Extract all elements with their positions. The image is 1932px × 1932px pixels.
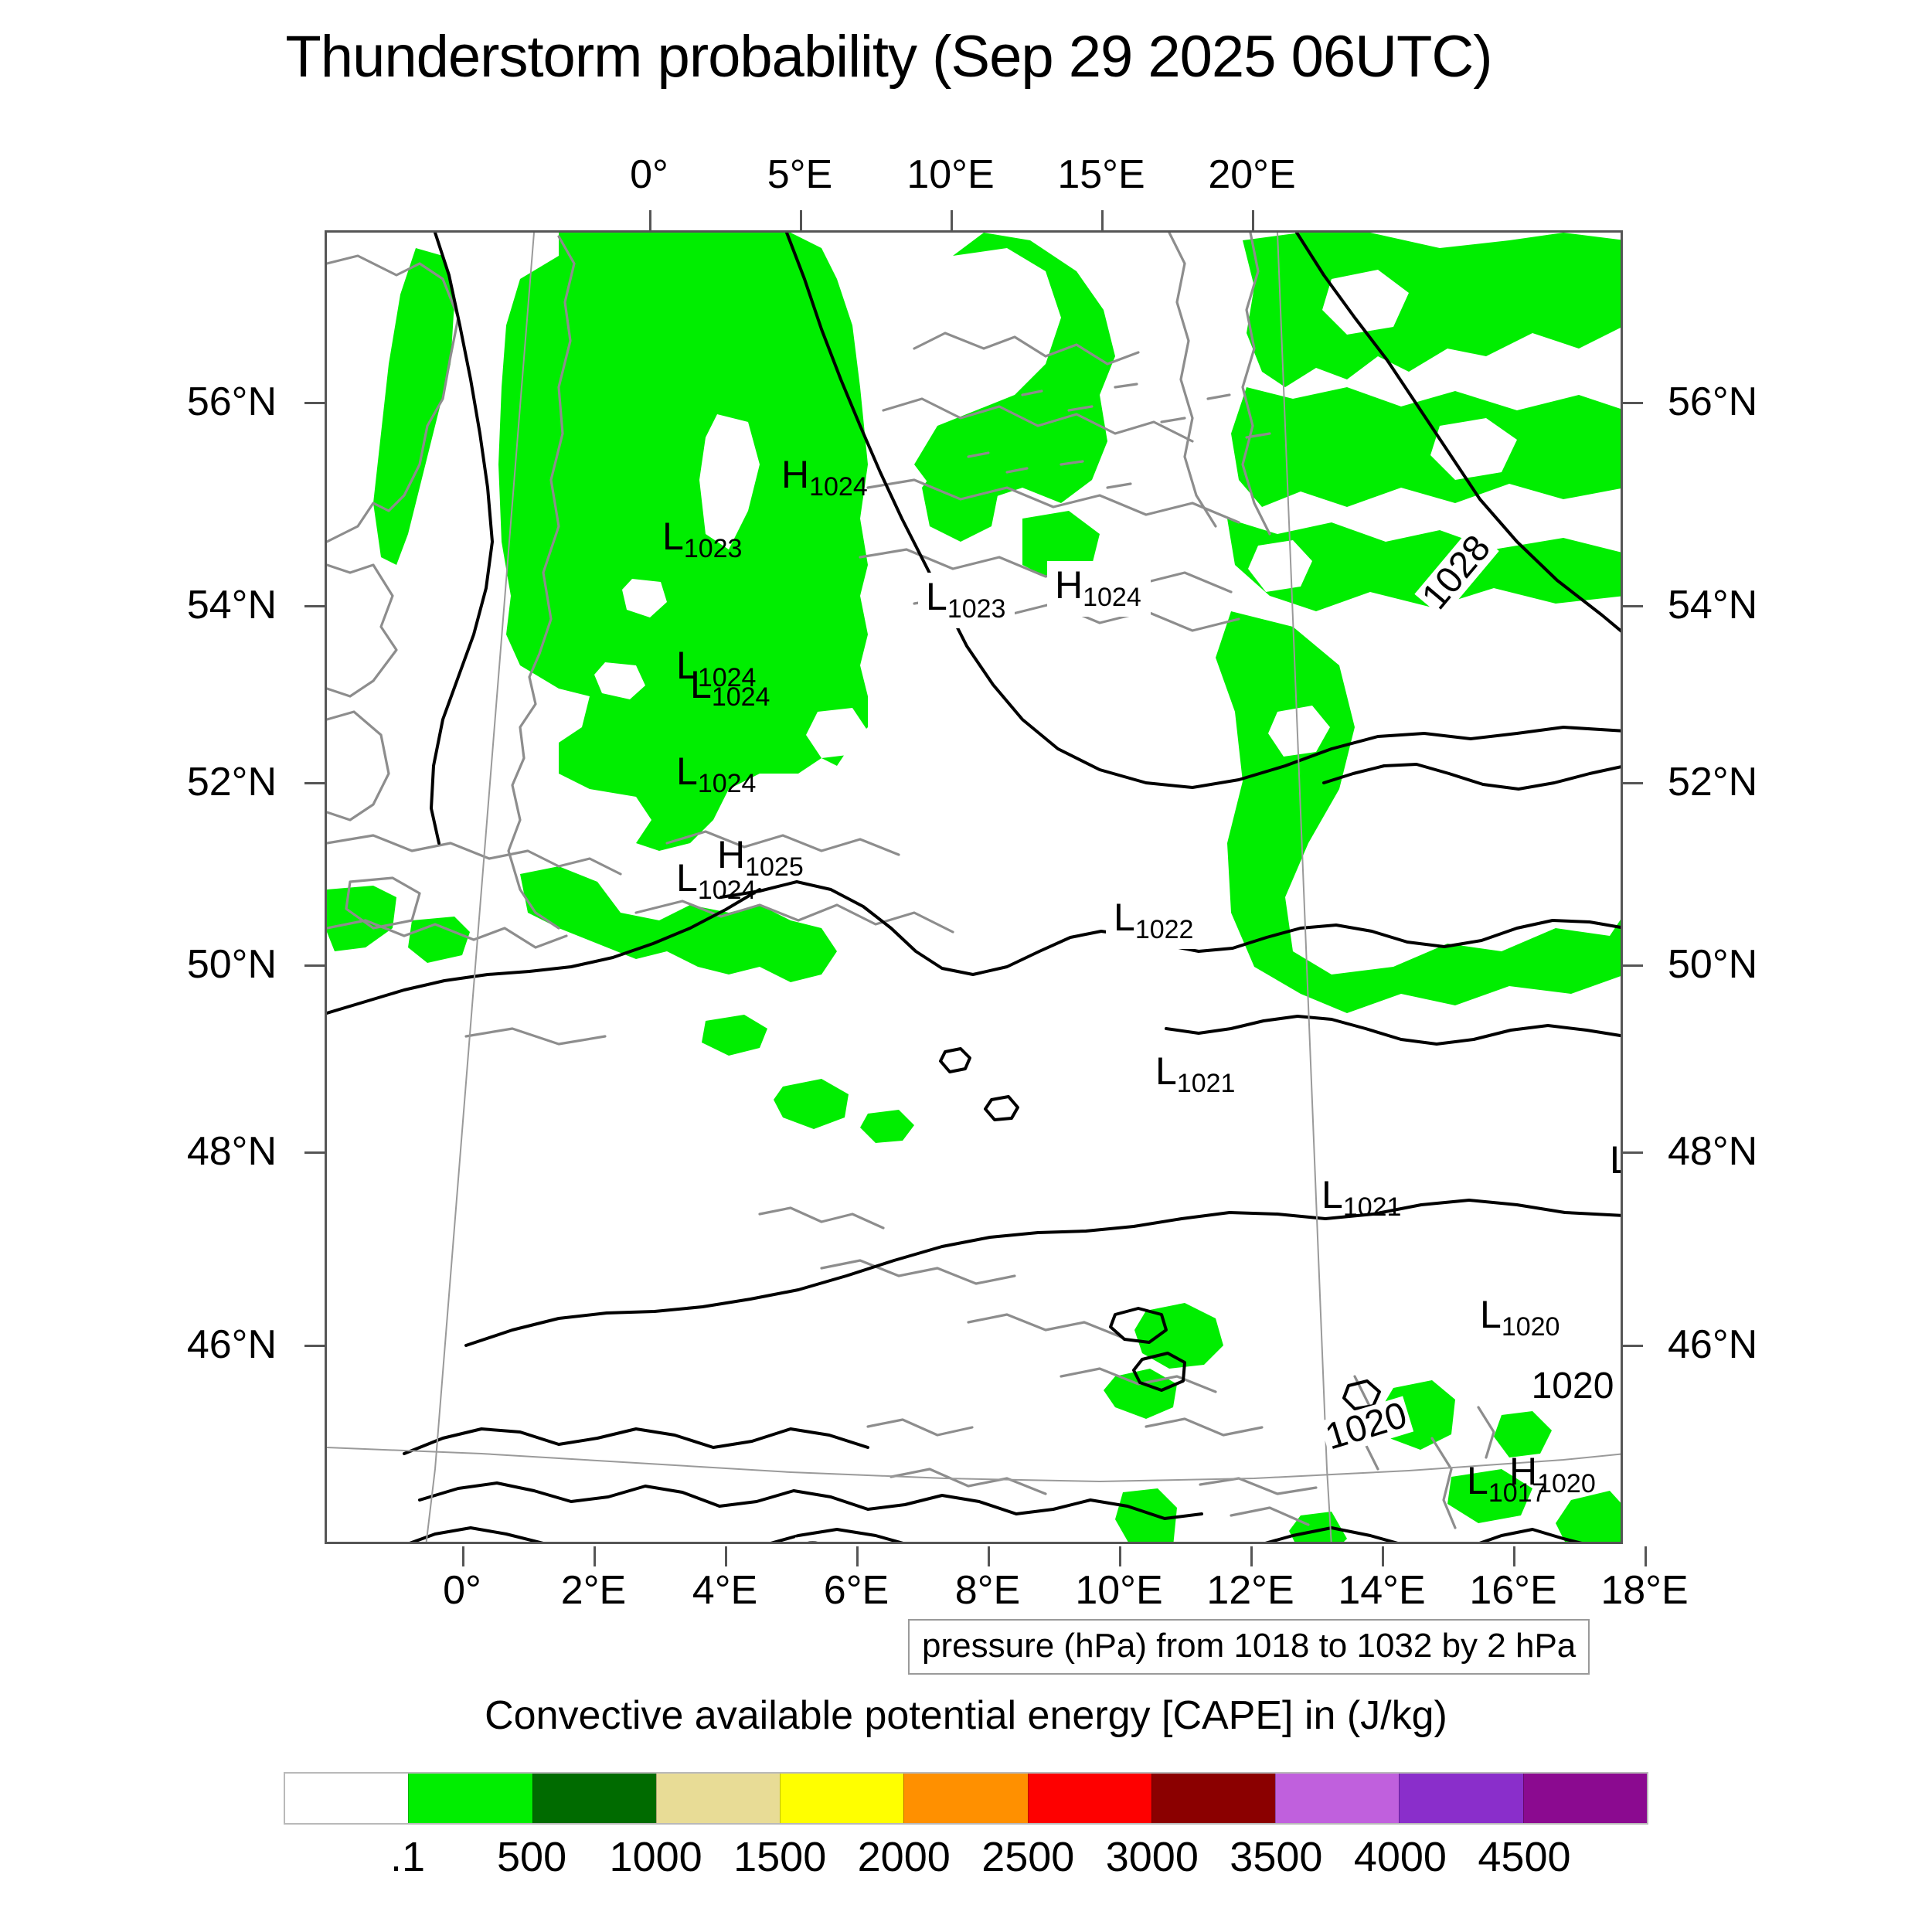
pressure-center-type: L [1270,1535,1291,1544]
colorbar-tick-2: 1000 [610,1833,702,1881]
pressure-center-value: 1024 [712,682,770,712]
colorbar-band-2[interactable] [532,1774,656,1823]
left-lat-tick-5 [304,1345,325,1347]
left-lat-label-3: 50°N [187,941,277,988]
pressure-center-h-1024: H1024 [781,455,868,500]
pressure-center-value: 1024 [698,769,757,798]
pressure-center-h-1024: H1024 [1047,561,1151,617]
right-lat-label-4: 48°N [1668,1128,1757,1175]
left-lat-tick-2 [304,782,325,784]
bottom-lon-tick-7 [1382,1546,1384,1566]
top-lon-label-0: 0° [630,151,668,198]
colorbar-title: Convective available potential energy [C… [0,1692,1932,1739]
left-lat-label-5: 46°N [187,1321,277,1368]
pressure-center-l-1024: L1024 [676,752,756,797]
right-lat-label-0: 56°N [1668,379,1757,425]
left-lat-label-0: 56°N [187,379,277,425]
pressure-center-l-1017: L1017 [1467,1461,1546,1506]
cape-shading-layer [327,233,1623,1544]
contour-label-1020: 1020 [795,1538,832,1544]
bottom-lon-label-2: 4°E [692,1567,757,1614]
pressure-center-l-1021: L1021 [1155,1052,1235,1097]
pressure-center-type: L [926,575,947,618]
bottom-lon-tick-8 [1513,1546,1515,1566]
right-lat-tick-4 [1623,1151,1643,1154]
top-lon-label-3: 15°E [1057,151,1145,198]
map-canvas [327,233,1623,1544]
top-lon-tick-4 [1252,210,1254,230]
pressure-center-type: H [781,453,809,496]
colorbar-tick-5: 2500 [981,1833,1074,1881]
colorbar-band-6[interactable] [1028,1774,1151,1823]
pressure-center-value: 1024 [809,472,868,502]
bottom-lon-tick-3 [856,1546,859,1566]
pressure-center-value: 1024 [698,876,757,905]
bottom-lon-tick-5 [1119,1546,1121,1566]
right-lat-tick-1 [1623,605,1643,607]
pressure-center-value: 1017 [1488,1478,1547,1508]
right-lat-tick-5 [1623,1345,1643,1347]
bottom-lon-label-9: 18°E [1600,1567,1688,1614]
bottom-lon-tick-9 [1645,1546,1647,1566]
pressure-center-value: 1021 [1343,1192,1402,1222]
pressure-center-l-1021: L1021 [1321,1175,1401,1220]
left-lat-tick-1 [304,605,325,607]
colorbar-tick-9: 4500 [1478,1833,1570,1881]
pressure-center-type: L [1321,1173,1343,1216]
pressure-center-type: L [662,515,684,558]
top-lon-tick-1 [800,210,802,230]
bottom-lon-tick-0 [462,1546,464,1566]
colorbar-tick-7: 3500 [1230,1833,1322,1881]
right-lat-label-3: 50°N [1668,941,1757,988]
bottom-lon-label-0: 0° [443,1567,481,1614]
map-plot-area[interactable]: H1024L1023L1024L1024L1024H1025L1024L1023… [325,230,1623,1544]
colorbar-tick-layer: .150010001500200025003000350040004500 [284,1833,1648,1887]
top-lon-tick-3 [1101,210,1104,230]
bottom-lon-tick-2 [725,1546,727,1566]
pressure-center-type: L [1114,896,1135,939]
left-lat-label-4: 48°N [187,1128,277,1175]
right-lat-label-5: 46°N [1668,1321,1757,1368]
pressure-center-type: L [676,750,698,793]
pressure-center-value: 1023 [684,534,743,563]
top-lon-tick-2 [951,210,953,230]
pressure-center-l-1022: L1022 [1610,1141,1623,1185]
bottom-lon-label-6: 12°E [1206,1567,1294,1614]
pressure-center-value: 1023 [947,594,1006,624]
top-lon-label-4: 20°E [1208,151,1295,198]
pressure-center-type: L [1155,1049,1177,1093]
pressure-center-l-1023: L1023 [662,517,742,562]
colorbar-band-8[interactable] [1275,1774,1399,1823]
right-lat-tick-3 [1623,964,1643,967]
colorbar-band-10[interactable] [1523,1774,1647,1823]
page-title: Thunderstorm probability (Sep 29 2025 06… [0,23,1777,90]
colorbar-band-4[interactable] [780,1774,903,1823]
left-lat-label-2: 52°N [187,759,277,805]
bottom-lon-label-5: 10°E [1075,1567,1162,1614]
pressure-center-l-1024: L1024 [676,859,756,903]
colorbar-tick-1: 500 [497,1833,566,1881]
pressure-center-value: 1020 [1502,1312,1560,1342]
pressure-center-type: L [1467,1459,1488,1502]
pressure-center-value: 1022 [1135,915,1194,944]
cape-colorbar[interactable] [284,1772,1648,1825]
pressure-center-type: L [690,663,712,706]
pressure-center-type: L [1610,1138,1623,1182]
colorbar-band-1[interactable] [408,1774,532,1823]
contour-label-1020: 1020 [1529,1368,1617,1405]
pressure-center-value: 1024 [1083,583,1141,612]
weather-map-page: Thunderstorm probability (Sep 29 2025 06… [0,0,1932,1932]
top-lon-label-2: 10°E [906,151,994,198]
colorbar-band-0[interactable] [285,1774,408,1823]
pressure-center-value: 1021 [1177,1069,1236,1098]
pressure-center-l-1017: L1017 [1270,1537,1349,1544]
bottom-lon-label-4: 8°E [955,1567,1020,1614]
pressure-center-type: H [1055,563,1083,607]
pressure-center-l-1024: L1024 [690,665,770,710]
colorbar-band-7[interactable] [1151,1774,1275,1823]
colorbar-tick-6: 3000 [1106,1833,1199,1881]
colorbar-band-3[interactable] [656,1774,780,1823]
right-lat-label-1: 54°N [1668,582,1757,628]
left-lat-label-1: 54°N [187,582,277,628]
right-lat-tick-0 [1623,402,1643,404]
pressure-range-note: pressure (hPa) from 1018 to 1032 by 2 hP… [908,1619,1590,1675]
pressure-center-type: L [1480,1293,1502,1336]
bottom-lon-label-1: 2°E [561,1567,626,1614]
bottom-lon-label-8: 16°E [1469,1567,1556,1614]
colorbar-band-9[interactable] [1399,1774,1522,1823]
bottom-lon-label-3: 6°E [824,1567,889,1614]
pressure-center-type: L [676,856,698,900]
right-lat-tick-2 [1623,782,1643,784]
pressure-center-l-1022: L1022 [1106,893,1202,949]
colorbar-tick-4: 2000 [858,1833,951,1881]
left-lat-tick-0 [304,402,325,404]
left-lat-tick-3 [304,964,325,967]
colorbar-tick-8: 4000 [1354,1833,1447,1881]
bottom-lon-tick-1 [594,1546,596,1566]
bottom-lon-tick-6 [1250,1546,1253,1566]
bottom-lon-tick-4 [988,1546,990,1566]
left-lat-tick-4 [304,1151,325,1154]
colorbar-band-5[interactable] [903,1774,1027,1823]
colorbar-tick-0: .1 [390,1833,425,1881]
top-lon-tick-0 [649,210,651,230]
bottom-lon-label-7: 14°E [1338,1567,1425,1614]
pressure-center-l-1023: L1023 [918,573,1015,628]
colorbar-tick-3: 1500 [733,1833,826,1881]
right-lat-label-2: 52°N [1668,759,1757,805]
pressure-center-l-1020: L1020 [1480,1295,1560,1340]
top-lon-label-1: 5°E [767,151,832,198]
